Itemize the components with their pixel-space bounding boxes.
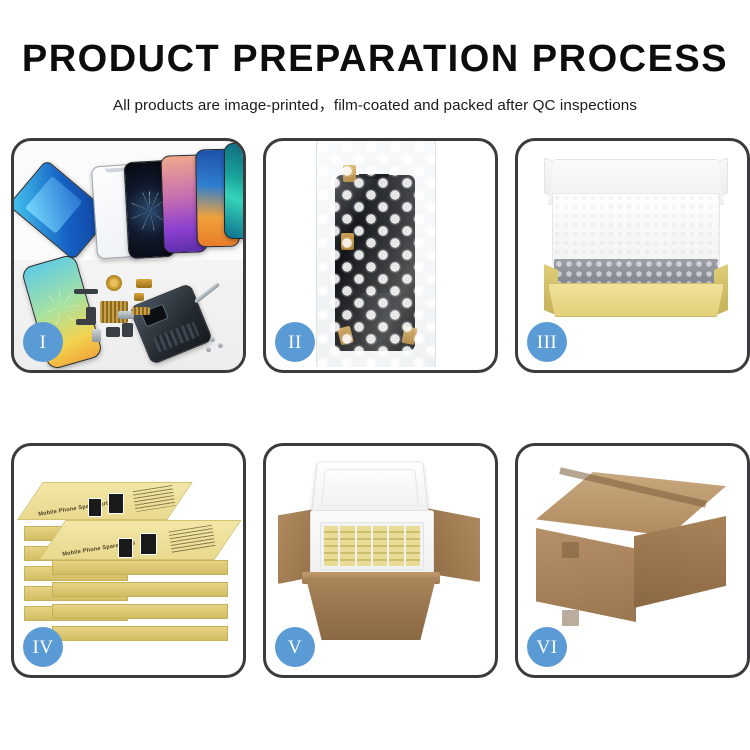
gold-bracket-part: [134, 293, 144, 301]
page-header: PRODUCT PREPARATION PROCESS All products…: [0, 0, 750, 115]
process-step-4: Mobile Phone Spare Parts Mobile Phone Sp…: [11, 443, 246, 678]
step-badge-6: VI: [527, 627, 567, 667]
ic-part: [132, 307, 150, 315]
bubble-wrap-bag: [316, 141, 436, 367]
page-subtitle: All products are image-printed，film-coat…: [0, 93, 750, 115]
printed-box-2: Mobile Phone Spare Parts: [52, 520, 228, 564]
box-screen-thumbnail: [88, 498, 102, 517]
white-foam-sheet: [552, 193, 720, 265]
camera-module-part: [106, 327, 120, 337]
flex-strip-part: [74, 289, 98, 294]
page-title: PRODUCT PREPARATION PROCESS: [0, 40, 750, 80]
box-screen-thumbnail: [140, 533, 157, 555]
process-step-6: VI: [515, 443, 750, 678]
printed-box-1: Mobile Phone Spare Parts: [30, 482, 180, 524]
process-step-grid: I II: [11, 138, 739, 678]
yellow-box-front: [548, 283, 724, 317]
speaker-part: [106, 275, 122, 291]
process-step-5: V: [263, 443, 498, 678]
process-step-1: I: [11, 138, 246, 373]
step-badge-4: IV: [23, 627, 63, 667]
carton-front-face: [536, 528, 636, 622]
yellow-boxes-inside: [320, 522, 424, 570]
process-step-3: III: [515, 138, 750, 373]
teal-gradient-phone: [224, 143, 243, 239]
battery-connector-part: [122, 323, 133, 337]
ribbon-part: [76, 319, 94, 325]
screw-part: [206, 347, 211, 352]
metal-shield-part: [92, 329, 101, 342]
carton-flap-tab: [562, 610, 579, 626]
plastic-sheen: [317, 141, 435, 367]
foam-lid: [311, 461, 429, 515]
screw-part: [210, 337, 215, 342]
gold-connector-part: [136, 279, 152, 288]
step-badge-5: V: [275, 627, 315, 667]
screw-part: [218, 343, 223, 348]
step-badge-3: III: [527, 322, 567, 362]
step-badge-2: II: [275, 322, 315, 362]
carton-flap-right: [426, 508, 480, 582]
carton-body: [306, 578, 436, 640]
box-screen-thumbnail: [108, 493, 124, 514]
box-screen-thumbnail: [118, 538, 133, 558]
process-step-2: II: [263, 138, 498, 373]
step-badge-1: I: [23, 322, 63, 362]
carton-flap-tab: [562, 542, 579, 558]
product-preparation-page: PRODUCT PREPARATION PROCESS All products…: [0, 0, 750, 750]
